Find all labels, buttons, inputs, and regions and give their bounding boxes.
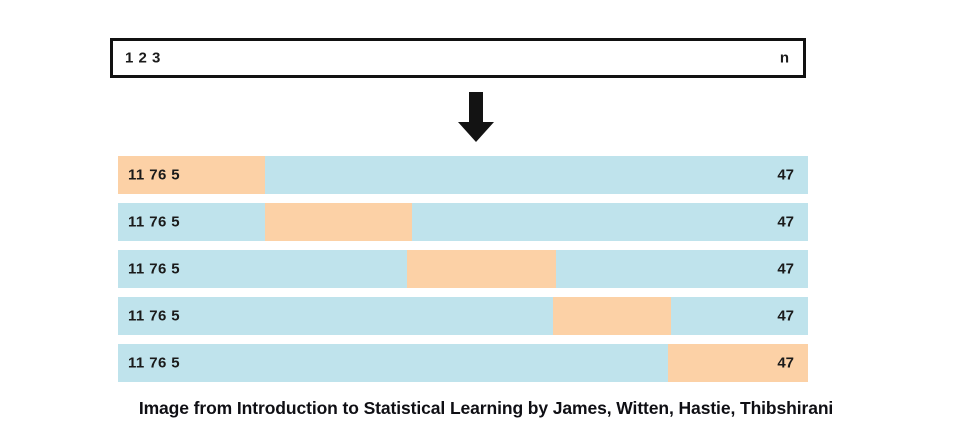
fold-row: 11 76 547 [118,250,808,288]
fold-row: 11 76 547 [118,297,808,335]
validation-set-segment [265,203,412,241]
fold-right-label: 47 [777,355,794,372]
down-arrow-icon [454,92,498,142]
full-dataset-box: 1 2 3 n [110,38,806,78]
fold-left-label: 11 76 5 [128,308,180,325]
fold-right-label: 47 [777,308,794,325]
fold-row: 11 76 547 [118,156,808,194]
fold-left-label: 11 76 5 [128,261,180,278]
source-caption: Image from Introduction to Statistical L… [0,398,972,419]
fold-left-label: 11 76 5 [128,214,180,231]
validation-set-segment [553,297,672,335]
fold-row: 11 76 547 [118,344,808,382]
fold-right-label: 47 [777,261,794,278]
fold-rows-container: 11 76 54711 76 54711 76 54711 76 54711 7… [118,156,808,382]
fold-right-label: 47 [777,167,794,184]
full-dataset-right-label: n [780,50,789,67]
fold-row: 11 76 547 [118,203,808,241]
validation-set-segment [407,250,556,288]
fold-left-label: 11 76 5 [128,355,180,372]
full-dataset-left-label: 1 2 3 [125,50,161,67]
fold-left-label: 11 76 5 [128,167,180,184]
fold-right-label: 47 [777,214,794,231]
diagram-canvas: 1 2 3 n 11 76 54711 76 54711 76 54711 76… [0,0,972,443]
